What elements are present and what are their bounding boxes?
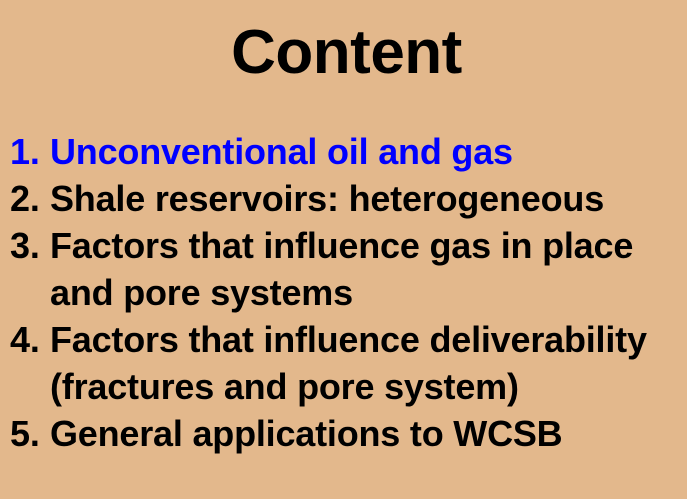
list-item-number: 5. bbox=[10, 410, 50, 457]
list-item-label: Unconventional oil and gas bbox=[50, 128, 687, 175]
content-list: 1. Unconventional oil and gas 2. Shale r… bbox=[10, 128, 687, 457]
list-item-label: Factors that influence gas in place and … bbox=[50, 222, 687, 316]
list-item[interactable]: 1. Unconventional oil and gas bbox=[10, 128, 687, 175]
list-item-number: 1. bbox=[10, 128, 50, 175]
list-item[interactable]: 2. Shale reservoirs: heterogeneous bbox=[10, 175, 687, 222]
list-item-number: 4. bbox=[10, 316, 50, 363]
list-item-number: 2. bbox=[10, 175, 50, 222]
list-item[interactable]: 4. Factors that influence deliverability… bbox=[10, 316, 687, 410]
list-item[interactable]: 3. Factors that influence gas in place a… bbox=[10, 222, 687, 316]
page-title: Content bbox=[0, 22, 687, 84]
list-item[interactable]: 5. General applications to WCSB bbox=[10, 410, 687, 457]
list-item-label: Shale reservoirs: heterogeneous bbox=[50, 175, 687, 222]
list-item-number: 3. bbox=[10, 222, 50, 269]
presentation-slide: Content 1. Unconventional oil and gas 2.… bbox=[0, 0, 687, 499]
list-item-label: Factors that influence deliverability (f… bbox=[50, 316, 687, 410]
list-item-label: General applications to WCSB bbox=[50, 410, 687, 457]
